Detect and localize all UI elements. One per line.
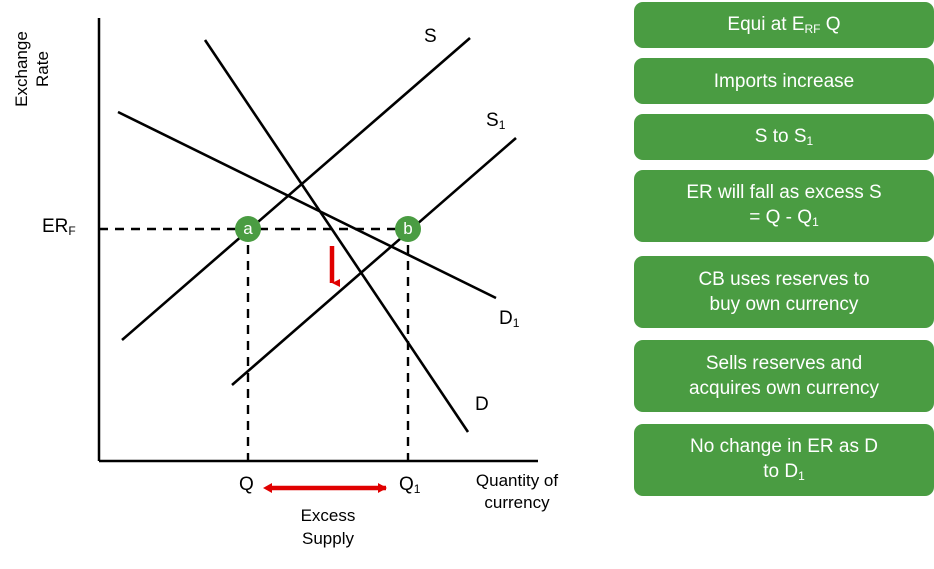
- excess-supply-label: Excess Supply: [268, 504, 388, 550]
- curve-label-supply: S: [424, 26, 437, 48]
- supply-1-subscript: 1: [499, 118, 506, 132]
- step-text-after: Q: [821, 14, 841, 35]
- step-box-3[interactable]: S to S1: [634, 114, 934, 160]
- step-box-text: Equi at ERF Q: [727, 12, 840, 39]
- step-box-text: S to S1: [755, 124, 813, 151]
- er-f-base: ER: [42, 216, 68, 237]
- q1-base: Q: [399, 474, 414, 495]
- demand-1-base: D: [499, 308, 513, 329]
- step-text-subscript: 1: [812, 215, 819, 229]
- step-box-4[interactable]: ER will fall as excess S = Q - Q1: [634, 170, 934, 242]
- x-axis-title: Quantity of currency: [452, 470, 582, 514]
- x-tick-label-q: Q: [239, 474, 254, 496]
- er-f-subscript: F: [68, 224, 75, 238]
- curve-supply-1: [232, 138, 516, 385]
- exchange-rate-diagram: Exchange Rate Quantity of currency ERF S…: [0, 0, 620, 569]
- step-box-1[interactable]: Equi at ERF Q: [634, 2, 934, 48]
- demand-1-subscript: 1: [513, 316, 520, 330]
- curve-label-demand: D: [475, 394, 489, 416]
- q1-subscript: 1: [414, 482, 421, 496]
- step-text-main: CB uses reserves to buy own currency: [698, 269, 869, 315]
- y-axis-title: Exchange Rate: [11, 0, 53, 139]
- curve-label-demand-1: D1: [499, 308, 519, 330]
- step-text-main: Imports increase: [714, 71, 854, 92]
- step-box-text: Sells reserves and acquires own currency: [689, 351, 879, 401]
- step-box-text: ER will fall as excess S = Q - Q1: [686, 180, 881, 232]
- step-text-subscript: 1: [807, 134, 814, 148]
- equilibrium-point-b: b: [395, 216, 421, 242]
- step-box-text: No change in ER as D to D1: [690, 434, 878, 486]
- step-box-text: CB uses reserves to buy own currency: [698, 267, 869, 317]
- step-text-main: Equi at E: [727, 14, 804, 35]
- step-text-main: Sells reserves and acquires own currency: [689, 353, 879, 399]
- supply-1-base: S: [486, 110, 499, 131]
- step-box-7[interactable]: No change in ER as D to D1: [634, 424, 934, 496]
- step-box-2[interactable]: Imports increase: [634, 58, 934, 104]
- step-text-subscript: RF: [805, 22, 821, 36]
- step-text-subscript: 1: [798, 469, 805, 483]
- explanation-steps-list: Equi at ERF Q Imports increase S to S1 E…: [634, 0, 934, 569]
- step-box-text: Imports increase: [714, 69, 854, 94]
- y-tick-label-er-f: ERF: [42, 216, 76, 238]
- x-tick-label-q1: Q1: [399, 474, 420, 496]
- step-box-5[interactable]: CB uses reserves to buy own currency: [634, 256, 934, 328]
- step-box-6[interactable]: Sells reserves and acquires own currency: [634, 340, 934, 412]
- curve-supply: [122, 38, 470, 340]
- curve-label-supply-1: S1: [486, 110, 505, 132]
- equilibrium-point-a: a: [235, 216, 261, 242]
- step-text-main: ER will fall as excess S = Q - Q: [686, 182, 881, 228]
- diagram-page: Exchange Rate Quantity of currency ERF S…: [0, 0, 934, 569]
- step-text-main: No change in ER as D to D: [690, 436, 878, 482]
- step-text-main: S to S: [755, 126, 807, 147]
